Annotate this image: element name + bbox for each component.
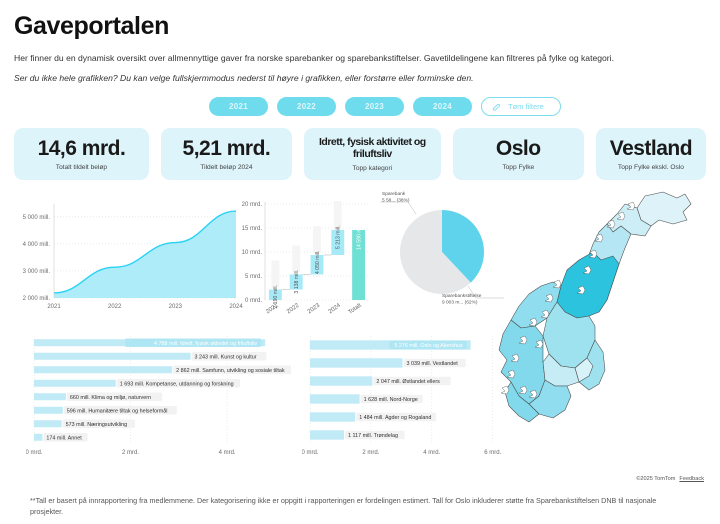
filter-year-2023[interactable]: 2023 [345, 97, 404, 116]
svg-text:Sparebank: Sparebank [382, 191, 406, 197]
svg-text:2022: 2022 [286, 303, 301, 316]
kpi-value: Idrett, fysisk aktivitet og friluftsliv [304, 136, 441, 160]
svg-text:3 138 mill.: 3 138 mill. [294, 270, 300, 294]
svg-text:2 mrd.: 2 mrd. [362, 450, 379, 456]
kpi-card-total: 14,6 mrd. Totalt tildelt beløp [14, 128, 149, 180]
svg-text:2021: 2021 [47, 304, 61, 310]
category-bar-chart[interactable]: 0 mrd.2 mrd.4 mrd.4 788 mill. Idrett, fy… [26, 332, 291, 467]
svg-text:5 276 mill. Oslo og Akershus: 5 276 mill. Oslo og Akershus [394, 343, 463, 349]
svg-text:1 484 mill. Agder og Rogaland: 1 484 mill. Agder og Rogaland [359, 415, 431, 421]
page-title: Gaveportalen [14, 0, 706, 41]
kpi-card-top-category: Idrett, fysisk aktivitet og friluftsliv … [304, 128, 441, 180]
svg-text:596 mill. Humanitære tiltak og: 596 mill. Humanitære tiltak og helseform… [67, 408, 168, 415]
filter-year-2024[interactable]: 2024 [413, 97, 472, 116]
svg-text:20 mrd.: 20 mrd. [242, 202, 263, 208]
svg-text:2 000 mill.: 2 000 mill. [23, 296, 51, 302]
map-coast-detail [501, 386, 509, 394]
map-copyright: ©2025 TomTom [636, 476, 675, 482]
svg-text:5 213 mill.: 5 213 mill. [336, 226, 342, 250]
svg-text:3 000 mill.: 3 000 mill. [23, 269, 51, 275]
svg-text:5 58... (38%): 5 58... (38%) [382, 198, 410, 204]
kpi-card-top-county-excl-oslo: Vestland Topp Fylke ekskl. Oslo [596, 128, 706, 180]
area-chart[interactable]: 2 000 mill.3 000 mill.4 000 mill.5 000 m… [14, 190, 244, 322]
svg-text:Sparebankstiftelse: Sparebankstiftelse [442, 293, 482, 299]
footnote: **Tall er basert på innrapportering fra … [30, 496, 690, 518]
svg-text:3 039 mill. Vestlandet: 3 039 mill. Vestlandet [407, 361, 459, 367]
svg-text:1 117 mill. Trøndelag: 1 117 mill. Trøndelag [348, 433, 398, 439]
svg-text:5 mrd.: 5 mrd. [245, 274, 262, 280]
norway-map[interactable] [495, 190, 715, 485]
filter-bar: 2021 2022 2023 2024 Tøm filtere [14, 97, 706, 116]
kpi-value: Vestland [610, 138, 692, 159]
svg-text:4 788 mill. Idrett, fysisk akt: 4 788 mill. Idrett, fysisk aktivitet og … [154, 341, 257, 347]
kpi-row: 14,6 mrd. Totalt tildelt beløp 5,21 mrd.… [14, 128, 706, 180]
svg-text:2024: 2024 [328, 303, 343, 316]
svg-text:3 243 mill. Kunst og kultur: 3 243 mill. Kunst og kultur [195, 355, 257, 361]
kpi-label: Topp Fylke [502, 164, 534, 171]
svg-text:2022: 2022 [108, 304, 122, 310]
intro-text: Her finner du en dynamisk oversikt over … [14, 41, 706, 63]
kpi-value: 5,21 mrd. [183, 138, 271, 159]
svg-text:0 mrd.: 0 mrd. [245, 298, 262, 304]
svg-text:10 mrd.: 10 mrd. [242, 250, 263, 256]
map-region-finnmark[interactable] [637, 192, 691, 226]
svg-text:2023: 2023 [307, 303, 322, 316]
clear-filters-label: Tøm filtere [508, 102, 544, 111]
filter-year-2022[interactable]: 2022 [277, 97, 336, 116]
clear-filters-button[interactable]: Tøm filtere [481, 97, 561, 116]
svg-text:14 590 mill.: 14 590 mill. [356, 224, 362, 251]
svg-text:4 050 mill.: 4 050 mill. [315, 251, 321, 275]
eraser-icon [492, 102, 501, 111]
map-region-trondelag[interactable] [557, 252, 619, 318]
svg-text:2 862 mill. Samfunn, utvikling: 2 862 mill. Samfunn, utvikling og sosial… [176, 368, 285, 374]
svg-text:1 693 mill. Kompetanse, utdann: 1 693 mill. Kompetanse, utdanning og for… [120, 382, 234, 388]
svg-text:660 mill. Klima og miljø, natu: 660 mill. Klima og miljø, naturvern [70, 395, 151, 401]
svg-text:0 mrd.: 0 mrd. [302, 450, 319, 456]
kpi-value: 14,6 mrd. [38, 138, 126, 159]
kpi-card-top-county: Oslo Topp Fylke [453, 128, 584, 180]
svg-text:2 047 mill. Østlandet ellers: 2 047 mill. Østlandet ellers [376, 379, 440, 385]
svg-text:573 mill. Næringsutvikling: 573 mill. Næringsutvikling [66, 422, 127, 428]
filter-year-2021[interactable]: 2021 [209, 97, 268, 116]
region-bar-chart[interactable]: 0 mrd.2 mrd.4 mrd.6 mrd.5 276 mill. Oslo… [302, 332, 517, 467]
kpi-label: Topp Fylke ekskl. Oslo [618, 164, 684, 171]
svg-text:2 mrd.: 2 mrd. [122, 450, 139, 456]
svg-text:5 000 mill.: 5 000 mill. [23, 215, 51, 221]
svg-text:174 mill. Annet: 174 mill. Annet [46, 436, 82, 442]
kpi-label: Tildelt beløp 2024 [200, 164, 252, 171]
gaveportalen-page: Gaveportalen Her finner du en dynamisk o… [0, 0, 720, 524]
svg-text:2023: 2023 [169, 304, 183, 310]
svg-text:4 mrd.: 4 mrd. [423, 450, 440, 456]
kpi-label: Totalt tildelt beløp [56, 164, 107, 171]
svg-text:4 mrd.: 4 mrd. [219, 450, 236, 456]
waterfall-chart[interactable]: 0 mrd.5 mrd.10 mrd.15 mrd.20 mrd.2 190 m… [229, 190, 379, 330]
map-attribution: ©2025 TomTom Feedback [636, 476, 704, 482]
svg-text:Totalt: Totalt [348, 303, 363, 316]
kpi-label: Topp kategori [353, 165, 393, 172]
svg-text:1 628 mill. Nord-Norge: 1 628 mill. Nord-Norge [364, 397, 418, 403]
svg-text:4 000 mill.: 4 000 mill. [23, 242, 51, 248]
svg-text:9 003 m... (62%): 9 003 m... (62%) [442, 300, 478, 306]
kpi-value: Oslo [496, 138, 541, 159]
map-feedback-link[interactable]: Feedback [679, 476, 704, 482]
kpi-card-2024: 5,21 mrd. Tildelt beløp 2024 [161, 128, 292, 180]
svg-text:0 mrd.: 0 mrd. [26, 450, 43, 456]
intro-text-italic: Ser du ikke hele grafikken? Du kan velge… [14, 63, 706, 83]
svg-text:15 mrd.: 15 mrd. [242, 226, 263, 232]
